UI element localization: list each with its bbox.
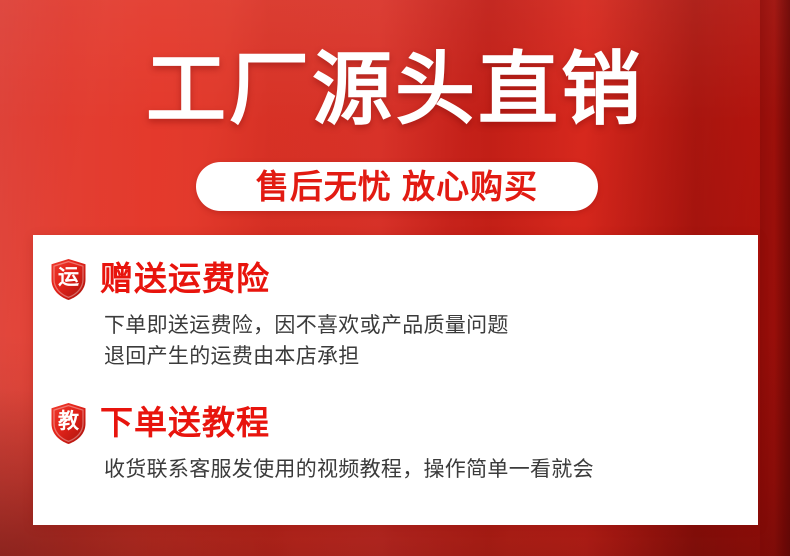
benefit-section-shipping-insurance: 运 赠送运费险 下单即送运费险，因不喜欢或产品质量问题 退回产生的运费由本店承担: [33, 257, 758, 372]
shield-badge-character: 教: [58, 411, 79, 432]
benefit-description-line: 下单即送运费险，因不喜欢或产品质量问题: [104, 310, 758, 341]
benefit-title: 赠送运费险: [100, 260, 270, 298]
benefits-card: 运 赠送运费险 下单即送运费险，因不喜欢或产品质量问题 退回产生的运费由本店承担: [33, 235, 758, 525]
shield-badge-character: 运: [58, 267, 79, 288]
benefit-heading-row: 运 赠送运费险: [33, 257, 758, 301]
benefit-section-tutorial: 教 下单送教程 收货联系客服发使用的视频教程，操作简单一看就会: [33, 401, 758, 485]
shield-icon: 教: [50, 402, 87, 445]
benefit-description: 下单即送运费险，因不喜欢或产品质量问题 退回产生的运费由本店承担: [33, 310, 758, 372]
benefit-description: 收货联系客服发使用的视频教程，操作简单一看就会: [33, 454, 758, 485]
benefit-description-line: 收货联系客服发使用的视频教程，操作简单一看就会: [104, 454, 758, 485]
page-title: 工厂源头直销: [0, 44, 790, 136]
benefit-heading-row: 教 下单送教程: [33, 401, 758, 445]
guarantee-pill-badge: 售后无忧 放心购买: [196, 162, 598, 211]
benefit-description-line: 退回产生的运费由本店承担: [104, 341, 758, 372]
promotional-banner: 工厂源头直销 售后无忧 放心购买: [0, 0, 790, 556]
shield-icon: 运: [50, 258, 87, 301]
guarantee-pill-label: 售后无忧 放心购买: [256, 170, 538, 203]
benefit-title: 下单送教程: [100, 404, 270, 442]
